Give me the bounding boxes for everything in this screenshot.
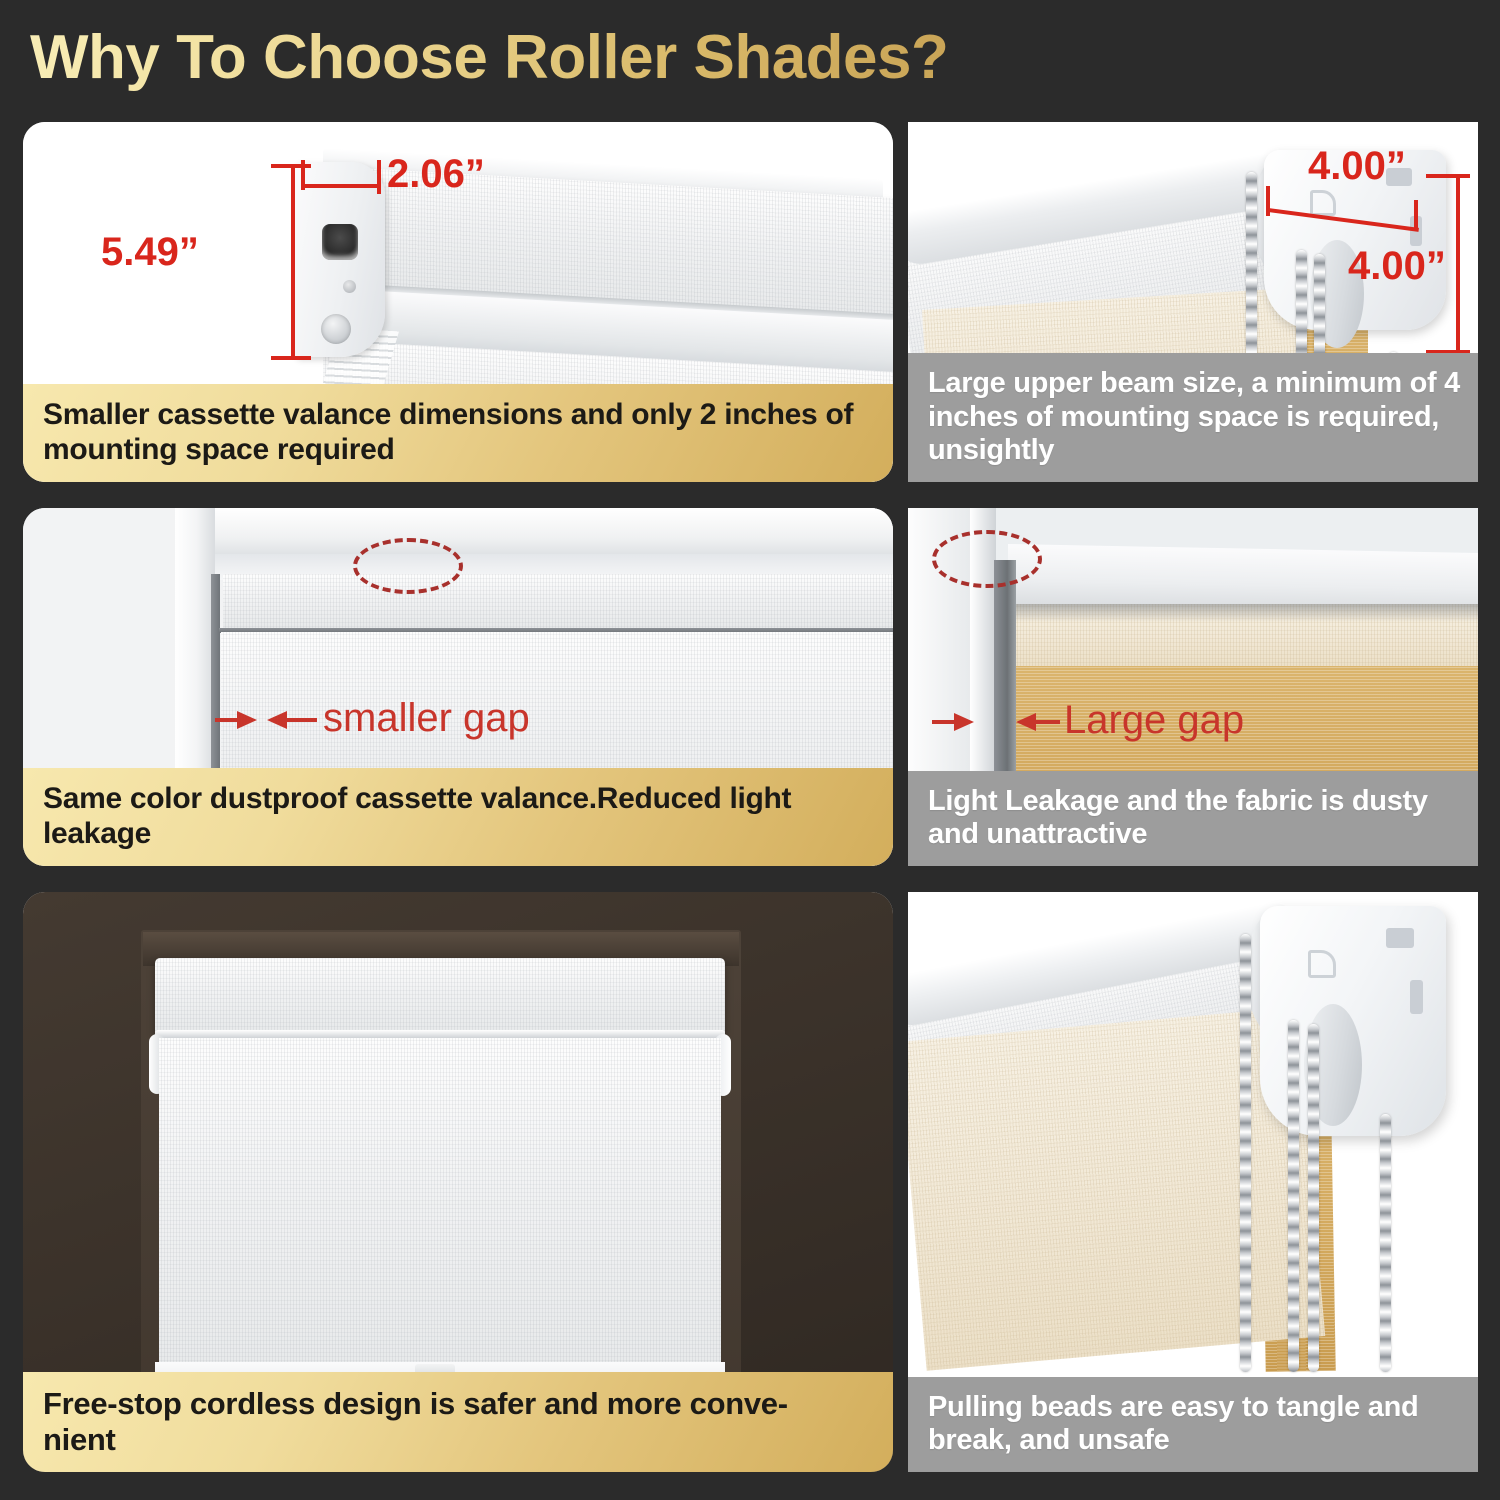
- beam-width-label: 4.00”: [1308, 144, 1406, 189]
- gap-arrow-right-icon: [237, 711, 257, 729]
- large-gap-label: Large gap: [1064, 698, 1244, 743]
- gap-arrow-right-icon: [954, 713, 974, 731]
- bracket-screw-small: [343, 280, 356, 293]
- height-dimension-label: 5.49”: [101, 230, 199, 275]
- bead-chain-4: [1380, 1114, 1391, 1372]
- bracket-notch-top: [1386, 928, 1414, 948]
- panel-4-caption: Light Leakage and the fabric is dusty an…: [908, 771, 1478, 866]
- gap-arrow-stem-right: [285, 718, 317, 722]
- seam-highlight-ellipse: [353, 538, 463, 594]
- bead-chain-3: [1308, 1024, 1319, 1372]
- bracket-screw-large: [321, 314, 351, 344]
- gap-arrow-left-icon: [1016, 713, 1036, 731]
- gap-arrow-left-icon: [267, 711, 287, 729]
- beam-height-label: 4.00”: [1348, 244, 1446, 289]
- beam-height-tick-top: [1426, 174, 1470, 178]
- gap-highlight-ellipse: [932, 530, 1042, 588]
- height-dim-tick-bottom: [271, 356, 311, 360]
- bracket-arrow-icon-top: [1308, 950, 1336, 978]
- beam-height-line: [1456, 174, 1460, 354]
- bead-chain-1: [1240, 934, 1251, 1372]
- cassette-valance: [155, 958, 725, 1034]
- panel-2-caption: Large upper beam size, a minimum of 4 in…: [908, 353, 1478, 482]
- bracket-arrow-icon-top: [1310, 190, 1336, 216]
- height-dim-tick-top: [271, 164, 311, 168]
- width-dim-line: [303, 184, 381, 188]
- bead-chain-2: [1288, 1020, 1299, 1372]
- panel-5-caption: Free-stop cordless design is safer and m…: [23, 1372, 893, 1472]
- infographic-root: Why To Choose Roller Shades? 2.06”: [0, 0, 1500, 1500]
- width-dimension-label: 2.06”: [387, 152, 485, 197]
- beam-width-tick-right: [1414, 200, 1418, 230]
- window-frame-top: [175, 508, 893, 558]
- panel-large-beam: 4.00” 4.00” Large upper beam size, a min…: [908, 122, 1478, 482]
- gap-arrow-stem-right: [1034, 720, 1060, 724]
- panel-cassette-dimensions: 2.06” 5.49” Smaller cassette valance dim…: [23, 122, 893, 482]
- panel-large-gap: Large gap Light Leakage and the fabric i…: [908, 508, 1478, 866]
- panel-1-caption: Smaller cassette valance dimensions and …: [23, 384, 893, 482]
- page-title: Why To Choose Roller Shades?: [30, 22, 948, 93]
- shade-fabric: [159, 1038, 721, 1380]
- gap-shadow-top: [1008, 604, 1478, 622]
- panel-3-caption: Same color dustproof cassette valance.Re…: [23, 768, 893, 866]
- cassette-valance: [223, 574, 893, 630]
- height-dim-line: [291, 164, 295, 360]
- panel-6-caption: Pulling beads are easy to tangle and bre…: [908, 1377, 1478, 1472]
- panel-cordless-design: Free-stop cordless design is safer and m…: [23, 892, 893, 1472]
- width-dim-tick-right: [377, 160, 381, 194]
- end-cap-bracket: [295, 162, 385, 357]
- smaller-gap-label: smaller gap: [323, 696, 530, 741]
- bracket-slot: [322, 224, 358, 260]
- panel-pull-beads: Pulling beads are easy to tangle and bre…: [908, 892, 1478, 1472]
- bracket-notch-right: [1410, 980, 1423, 1014]
- beam-width-tick-left: [1266, 186, 1270, 216]
- panel-smaller-gap: smaller gap Same color dustproof cassett…: [23, 508, 893, 866]
